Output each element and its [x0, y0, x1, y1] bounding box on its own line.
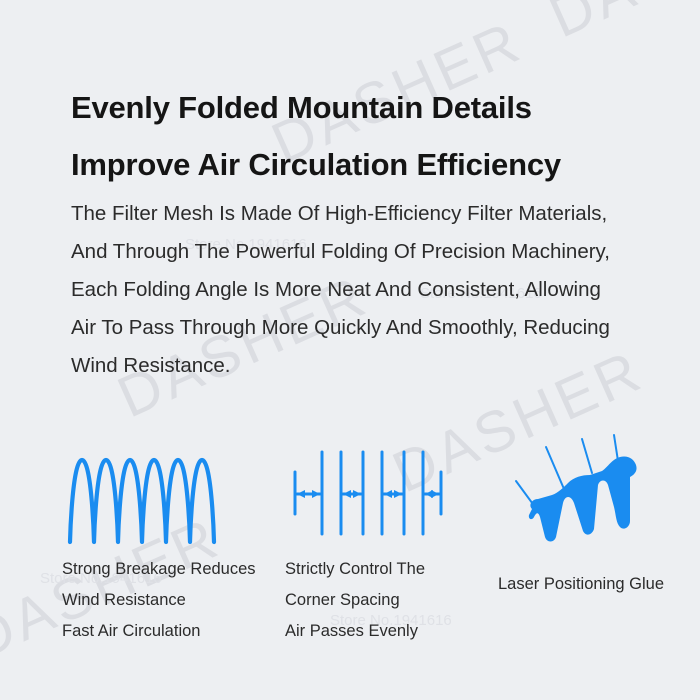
- feature-caption: Laser Positioning Glue: [498, 569, 693, 600]
- feature-caption: Strong Breakage Reduces Wind Resistance …: [62, 554, 277, 647]
- body-text-line: Wind Resistance.: [71, 354, 231, 378]
- laser-positioning-glue-icon: [498, 425, 663, 550]
- caption-line: Corner Spacing: [285, 585, 485, 616]
- corner-spacing-measure-icon: [285, 430, 450, 548]
- page-title-line-2: Improve Air Circulation Efficiency: [71, 147, 561, 183]
- caption-line: Wind Resistance: [62, 585, 277, 616]
- feature-caption: Strictly Control The Corner Spacing Air …: [285, 554, 485, 647]
- caption-line: Strictly Control The: [285, 554, 485, 585]
- caption-line: Strong Breakage Reduces: [62, 554, 277, 585]
- pleated-wave-icon: [62, 430, 242, 548]
- feature-block: Strong Breakage Reduces Wind Resistance …: [62, 430, 277, 647]
- body-text-line: Each Folding Angle Is More Neat And Cons…: [71, 278, 601, 302]
- caption-line: Laser Positioning Glue: [498, 569, 693, 600]
- body-text-line: The Filter Mesh Is Made Of High-Efficien…: [71, 202, 607, 226]
- feature-artwork: [285, 430, 485, 548]
- caption-line: Air Passes Evenly: [285, 616, 485, 647]
- body-text-line: Air To Pass Through More Quickly And Smo…: [71, 316, 610, 340]
- caption-line: Fast Air Circulation: [62, 616, 277, 647]
- feature-artwork: [498, 425, 693, 543]
- product-info-graphic: DASHER DASHER DASHER DASHER DASHER Store…: [0, 0, 700, 700]
- page-title-line-1: Evenly Folded Mountain Details: [71, 90, 532, 126]
- feature-block: Laser Positioning Glue: [498, 425, 693, 600]
- feature-block: Strictly Control The Corner Spacing Air …: [285, 430, 485, 647]
- body-text-line: And Through The Powerful Folding Of Prec…: [71, 240, 610, 264]
- feature-artwork: [62, 430, 277, 548]
